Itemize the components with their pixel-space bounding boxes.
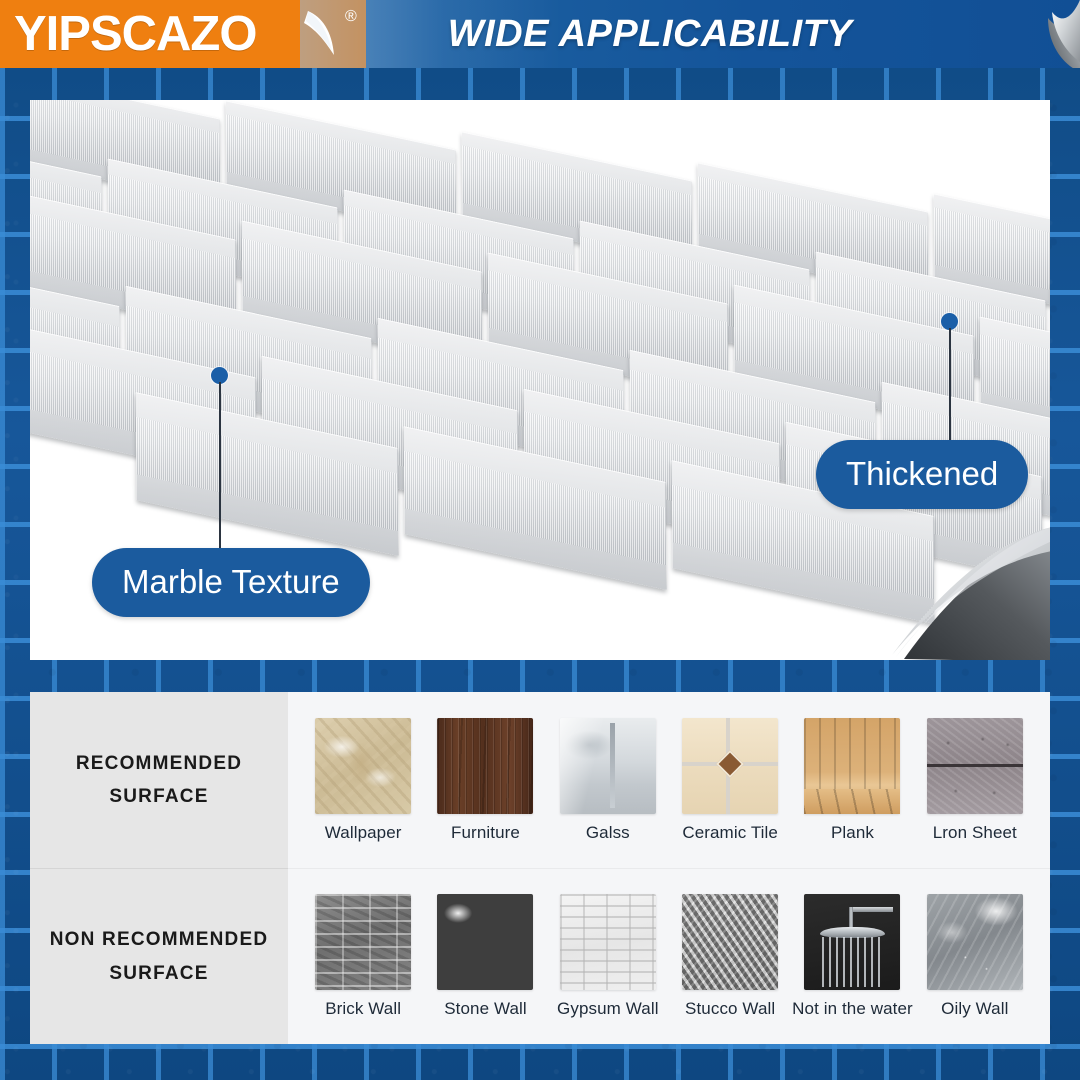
swatch-row-recommended: Wallpaper Furniture Galss Ceramic Tile: [288, 692, 1050, 868]
swatch-cell-gypsum-wall: Gypsum Wall: [547, 894, 669, 1019]
row-label-non-recommended: NON RECOMMENDED SURFACE: [30, 868, 288, 1044]
row-label-recommended: RECOMMENDED SURFACE: [30, 692, 288, 868]
swatch-image-plank: [804, 718, 900, 814]
table-swatch-grid: Wallpaper Furniture Galss Ceramic Tile: [288, 692, 1050, 1044]
ceramic-accent-diamond-icon: [716, 749, 744, 777]
swatch-label-stucco-wall: Stucco Wall: [685, 999, 775, 1019]
swatch-row-non-recommended: Brick Wall Stone Wall Gypsum Wall Stucco…: [288, 868, 1050, 1044]
swatch-image-iron-sheet: [927, 718, 1023, 814]
shower-bar-icon: [849, 907, 893, 912]
header-banner: YIPSCAZO ® WIDE APPLICABILITY: [0, 0, 1080, 68]
callout-line-thickened: [949, 328, 951, 448]
callout-pill-thickened: Thickened: [816, 440, 1028, 509]
header-corner-peel-icon: [1022, 0, 1080, 68]
swatch-label-ceramic-tile: Ceramic Tile: [682, 823, 778, 843]
swatch-cell-wallpaper: Wallpaper: [302, 718, 424, 843]
swatch-cell-glass: Galss: [547, 718, 669, 843]
swatch-label-not-in-the-water: Not in the water: [792, 999, 913, 1019]
swatch-cell-ceramic-tile: Ceramic Tile: [669, 718, 791, 843]
swatch-label-furniture: Furniture: [451, 823, 520, 843]
swatch-label-plank: Plank: [831, 823, 874, 843]
swatch-label-brick-wall: Brick Wall: [325, 999, 401, 1019]
marketing-image-root: YIPSCAZO ® WIDE APPLICABILITY: [0, 0, 1080, 1080]
swatch-image-glass: [560, 718, 656, 814]
swatch-label-iron-sheet: Lron Sheet: [933, 823, 1017, 843]
swatch-label-oily-wall: Oily Wall: [941, 999, 1008, 1019]
header-title: WIDE APPLICABILITY: [0, 0, 1080, 68]
shower-spray-icon: [822, 937, 883, 987]
swatch-label-gypsum-wall: Gypsum Wall: [557, 999, 659, 1019]
swatch-image-stucco-wall: [682, 894, 778, 990]
swatch-cell-brick-wall: Brick Wall: [302, 894, 424, 1019]
table-label-column: RECOMMENDED SURFACE NON RECOMMENDED SURF…: [30, 692, 288, 1044]
row-label-non-recommended-line2: SURFACE: [109, 957, 208, 990]
swatch-image-furniture: [437, 718, 533, 814]
swatch-image-not-in-the-water: [804, 894, 900, 990]
swatch-image-ceramic-tile: [682, 718, 778, 814]
swatch-image-wallpaper: [315, 718, 411, 814]
swatch-cell-not-in-the-water: Not in the water: [791, 894, 913, 1019]
swatch-cell-oily-wall: Oily Wall: [914, 894, 1036, 1019]
swatch-image-stone-wall: [437, 894, 533, 990]
swatch-cell-plank: Plank: [791, 718, 913, 843]
callout-line-marble: [219, 382, 221, 557]
swatch-image-oily-wall: [927, 894, 1023, 990]
swatch-cell-stone-wall: Stone Wall: [424, 894, 546, 1019]
swatch-image-gypsum-wall: [560, 894, 656, 990]
swatch-cell-iron-sheet: Lron Sheet: [914, 718, 1036, 843]
swatch-cell-furniture: Furniture: [424, 718, 546, 843]
callout-pill-marble: Marble Texture: [92, 548, 370, 617]
swatch-image-brick-wall: [315, 894, 411, 990]
row-label-recommended-line1: RECOMMENDED: [76, 747, 242, 780]
surface-recommendation-table: RECOMMENDED SURFACE NON RECOMMENDED SURF…: [30, 692, 1050, 1044]
swatch-label-stone-wall: Stone Wall: [444, 999, 527, 1019]
swatch-label-glass: Galss: [586, 823, 630, 843]
row-label-non-recommended-line1: NON RECOMMENDED: [50, 923, 269, 956]
row-label-recommended-line2: SURFACE: [109, 780, 208, 813]
swatch-label-wallpaper: Wallpaper: [325, 823, 402, 843]
swatch-cell-stucco-wall: Stucco Wall: [669, 894, 791, 1019]
shower-arm-icon: [849, 907, 853, 928]
product-image-panel: Marble Texture Thickened: [30, 100, 1050, 660]
registered-trademark-icon: ®: [345, 8, 357, 26]
